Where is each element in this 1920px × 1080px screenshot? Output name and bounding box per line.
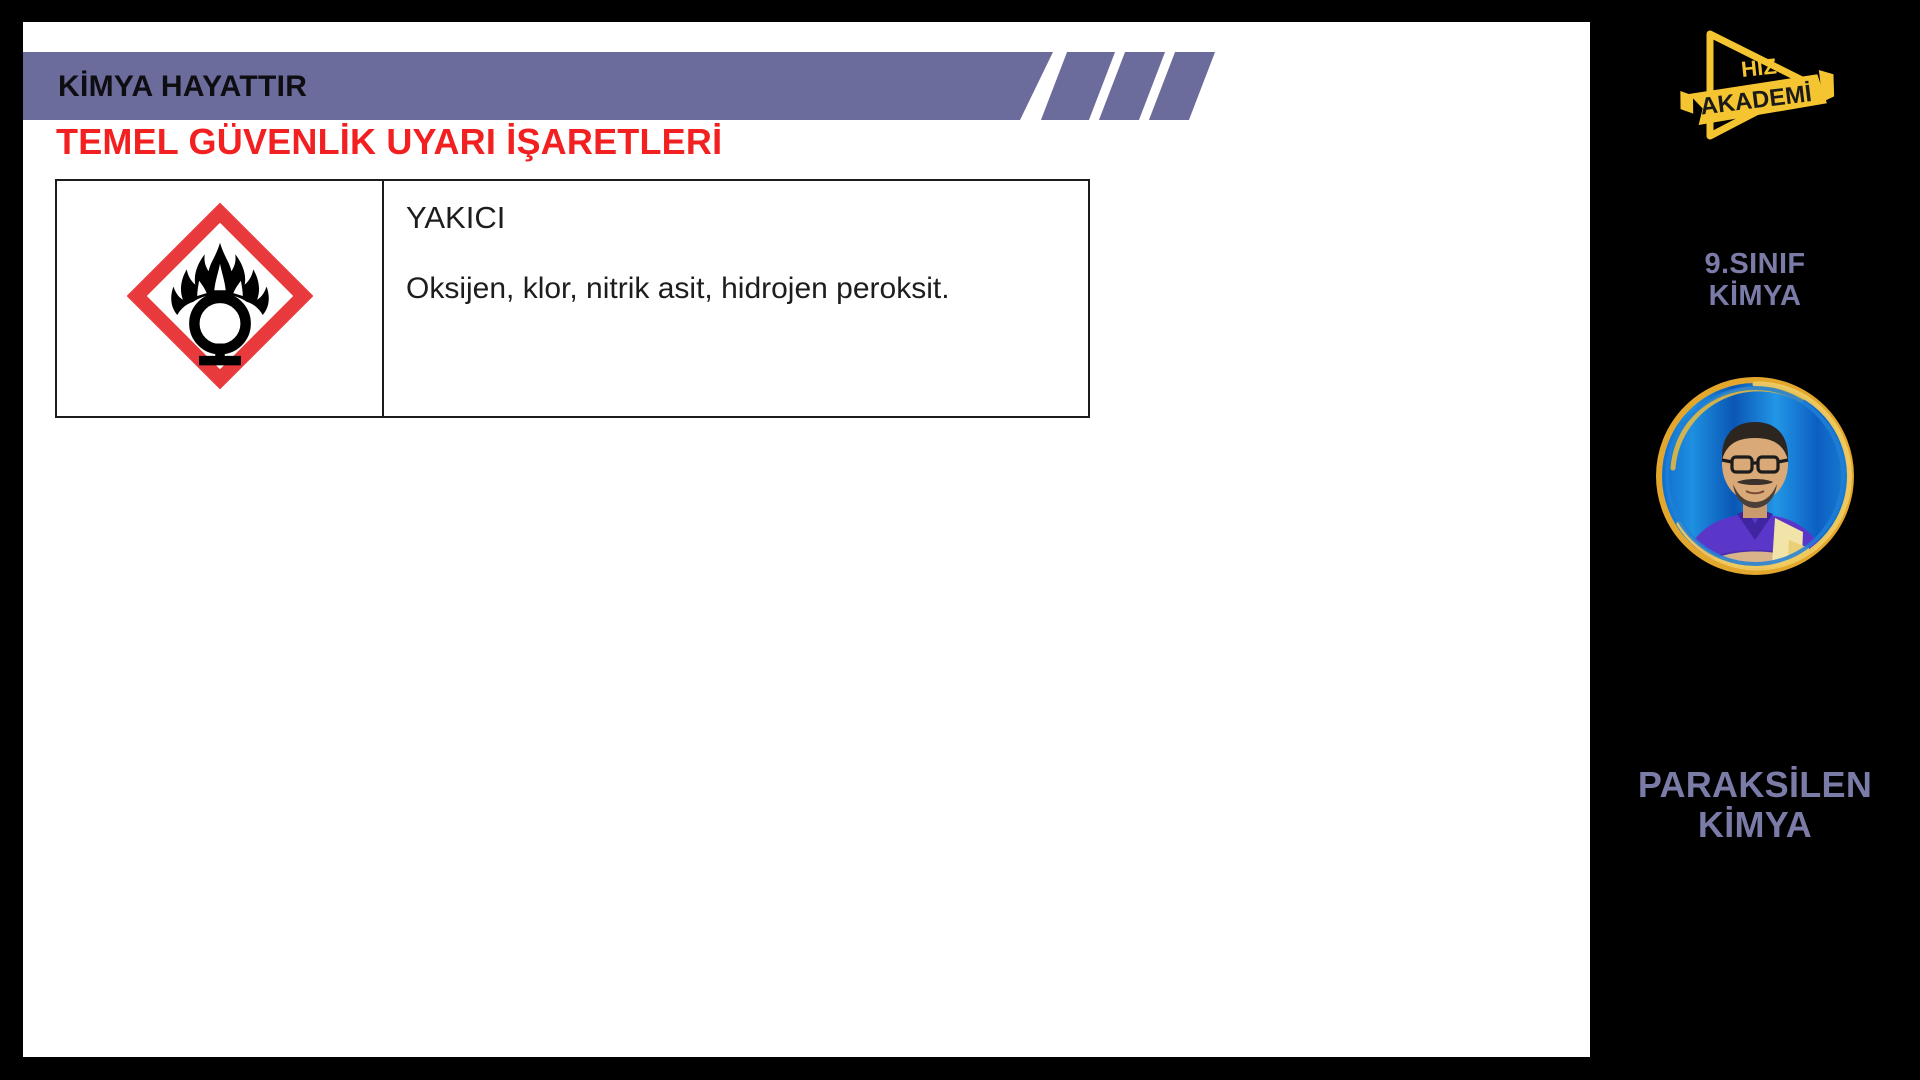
slide-header-title: KİMYA HAYATTIR (58, 53, 307, 121)
slide-stage: KİMYA HAYATTIR TEMEL GÜVENLİK UYARI İŞAR… (0, 0, 1920, 1080)
sidebar-rail: HIZ AKADEMİ 9.SINIF KİMYA (1590, 0, 1920, 1080)
brand-footer-line1: PARAKSİLEN (1590, 765, 1920, 805)
instructor-avatar (1651, 372, 1859, 580)
logo-line1: HIZ (1740, 53, 1778, 82)
oxidizing-flame-over-circle-icon (125, 201, 315, 391)
course-label-line1: 9.SINIF (1590, 248, 1920, 280)
course-label-line2: KİMYA (1590, 280, 1920, 312)
hazard-description: Oksijen, klor, nitrik asit, hidrojen per… (406, 268, 966, 311)
hiz-akademi-logo: HIZ AKADEMİ (1670, 22, 1840, 152)
hazard-name: YAKICI (406, 199, 1066, 238)
brand-footer-line2: KİMYA (1590, 805, 1920, 845)
table-row: YAKICI Oksijen, klor, nitrik asit, hidro… (56, 180, 1089, 417)
slide-canvas: KİMYA HAYATTIR TEMEL GÜVENLİK UYARI İŞAR… (23, 22, 1590, 1057)
section-title: TEMEL GÜVENLİK UYARI İŞARETLERİ (56, 121, 722, 163)
hazard-pictogram-cell (56, 180, 383, 417)
brand-footer: PARAKSİLEN KİMYA (1590, 765, 1920, 846)
hazard-symbols-table: YAKICI Oksijen, klor, nitrik asit, hidro… (55, 179, 1090, 418)
course-label: 9.SINIF KİMYA (1590, 248, 1920, 313)
hazard-text-cell: YAKICI Oksijen, klor, nitrik asit, hidro… (383, 180, 1089, 417)
